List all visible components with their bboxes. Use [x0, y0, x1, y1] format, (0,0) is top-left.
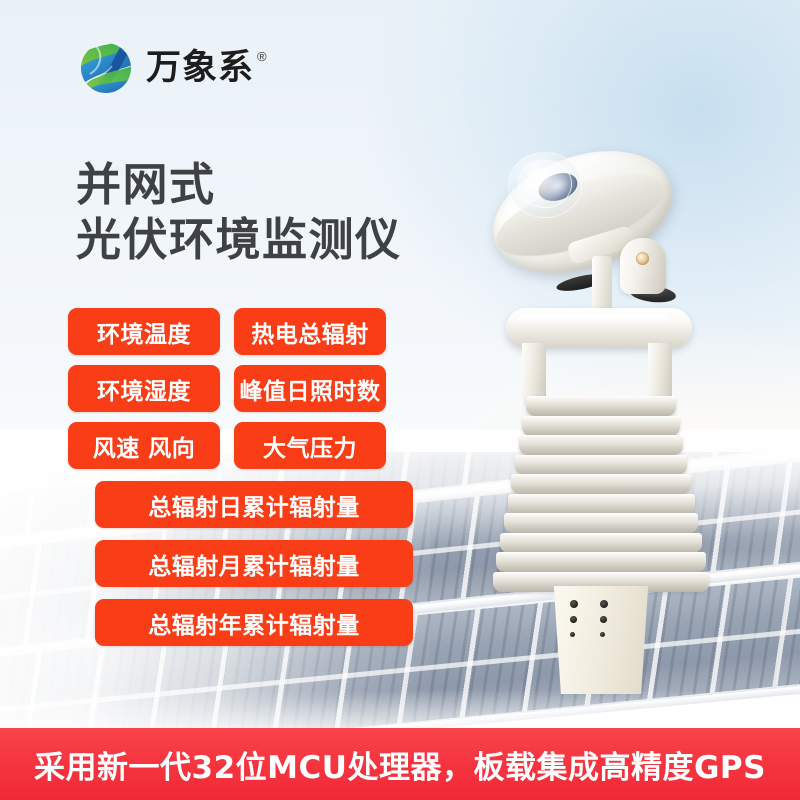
- hinge-screw-icon: [636, 252, 649, 265]
- feature-pill-wide[interactable]: 总辐射年累计辐射量: [95, 599, 413, 646]
- feature-pill[interactable]: 大气压力: [234, 422, 386, 469]
- feature-pill[interactable]: 热电总辐射: [234, 308, 386, 355]
- vent-hole: [570, 616, 577, 623]
- louver-plate: [504, 513, 698, 533]
- louver-plate: [508, 494, 695, 514]
- product-image: [470, 138, 770, 718]
- louver-plate: [496, 552, 705, 572]
- vent-hole: [600, 616, 607, 623]
- top-cap-highlight: [518, 314, 668, 325]
- feature-pill[interactable]: 风速 风向: [68, 422, 220, 469]
- feature-list: 环境温度 热电总辐射 环境湿度 峰值日照时数 风速 风向 大气压力 总辐射日累计…: [68, 308, 440, 646]
- feature-pill[interactable]: 环境湿度: [68, 365, 220, 412]
- louver-plate: [519, 435, 684, 455]
- brand-wordmark: 万象系 ®: [146, 51, 267, 86]
- title-line-1: 并网式: [76, 158, 402, 213]
- registered-trademark-icon: ®: [257, 49, 267, 64]
- globe-swoosh-logo-icon: [78, 40, 134, 96]
- bottom-banner: 采用新一代32位MCU处理器，板载集成高精度GPS: [0, 728, 800, 800]
- feature-pill-grid: 环境温度 热电总辐射 环境湿度 峰值日照时数 风速 风向 大气压力: [68, 308, 440, 469]
- feature-pill[interactable]: 峰值日照时数: [234, 365, 386, 412]
- brand-name: 万象系: [146, 51, 254, 86]
- louver-plate: [500, 533, 702, 553]
- adjustable-hinge-mount: [620, 238, 666, 294]
- feature-pill-wide-list: 总辐射日累计辐射量 总辐射月累计辐射量 总辐射年累计辐射量: [68, 481, 440, 646]
- banner-text: 采用新一代32位MCU处理器，板载集成高精度GPS: [34, 742, 766, 787]
- brand-logo: 万象系 ®: [78, 40, 267, 96]
- louver-plate: [526, 396, 676, 416]
- title-line-2: 光伏环境监测仪: [76, 213, 402, 268]
- louver-plate: [522, 416, 679, 436]
- feature-pill-wide[interactable]: 总辐射日累计辐射量: [95, 481, 413, 528]
- mount-neck: [592, 256, 612, 316]
- feature-pill-wide[interactable]: 总辐射月累计辐射量: [95, 540, 413, 587]
- page-title: 并网式 光伏环境监测仪: [76, 158, 402, 268]
- vent-hole: [570, 600, 578, 608]
- glass-dome-inner-ring: [518, 160, 572, 208]
- radiation-shield-louvers: [488, 396, 714, 596]
- feature-pill[interactable]: 环境温度: [68, 308, 220, 355]
- vent-hole: [600, 600, 608, 608]
- louver-plate: [515, 455, 687, 475]
- louver-plate: [511, 474, 691, 494]
- product-poster: 万象系 ® 并网式 光伏环境监测仪 环境温度 热电总辐射 环境湿度 峰值日照时数…: [0, 0, 800, 800]
